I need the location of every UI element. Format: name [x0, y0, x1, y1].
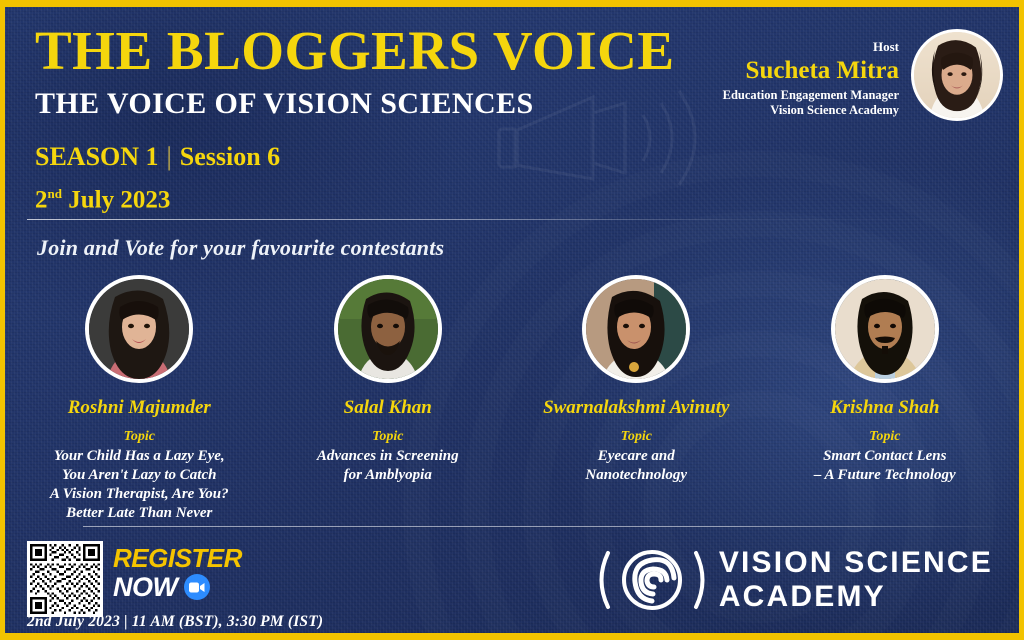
divider-header: [27, 219, 1009, 220]
contestant-portrait-image: [586, 279, 686, 379]
video-camera-icon[interactable]: [184, 574, 210, 600]
tagline: Join and Vote for your favourite contest…: [37, 235, 444, 261]
season-session-line: SEASON 1|Session 6: [35, 141, 675, 173]
contestant-topic: Your Child Has a Lazy Eye, You Aren't La…: [16, 447, 262, 523]
contestant-portrait-image: [89, 279, 189, 379]
host-name: Sucheta Mitra: [723, 56, 899, 85]
season-separator: |: [159, 142, 180, 171]
contestant-topic-label: Topic: [16, 428, 262, 446]
host-label: Host: [723, 39, 899, 55]
host-role: Education Engagement Manager: [723, 88, 899, 103]
contestant-avatar: [334, 275, 442, 383]
contestants-row: Roshni Majumder Topic Your Child Has a L…: [15, 275, 1009, 523]
fingerprint-spiral-logo-icon: [591, 543, 713, 617]
contestant-avatar: [85, 275, 193, 383]
host-organisation: Vision Science Academy: [723, 103, 899, 118]
contestant-portrait-image: [338, 279, 438, 379]
contestant-avatar: [582, 275, 690, 383]
now-row: NOW: [113, 572, 242, 602]
contestant-topic: Smart Contact Lens – A Future Technology: [762, 447, 1008, 485]
date-day: 2: [35, 186, 48, 213]
poster-canvas: THE BLOGGERS VOICE THE VOICE OF VISION S…: [0, 0, 1024, 640]
header-block: THE BLOGGERS VOICE THE VOICE OF VISION S…: [35, 21, 675, 215]
qr-code-image: [30, 544, 100, 614]
contestant-name: Salal Khan: [265, 396, 511, 419]
contestant-topic-label: Topic: [265, 428, 511, 446]
event-date: 2nd July 2023: [35, 179, 675, 215]
divider-footer: [83, 526, 1005, 527]
season-label: SEASON 1: [35, 142, 159, 171]
date-ordinal: nd: [48, 186, 62, 201]
contestant-topic-label: Topic: [762, 428, 1008, 446]
host-text-block: Host Sucheta Mitra Education Engagement …: [723, 29, 911, 118]
brand-logo: VISION SCIENCE ACADEMY: [591, 543, 993, 617]
host-portrait-image: [914, 32, 1000, 118]
contestant-topic: Eyecare and Nanotechnology: [513, 447, 759, 485]
contestant-card: Swarnalakshmi Avinuty Topic Eyecare and …: [513, 275, 759, 485]
date-rest: July 2023: [62, 186, 170, 213]
qr-code[interactable]: [27, 541, 103, 617]
contestant-topic: Advances in Screening for Amblyopia: [265, 447, 511, 485]
contestant-name: Roshni Majumder: [16, 396, 262, 419]
session-label: Session 6: [180, 142, 280, 171]
contestant-topic-label: Topic: [513, 428, 759, 446]
brand-line-2: ACADEMY: [719, 580, 993, 614]
page-title: THE BLOGGERS VOICE: [35, 21, 675, 81]
brand-wordmark: VISION SCIENCE ACADEMY: [719, 546, 993, 614]
footer-date-time: 2nd July 2023 | 11 AM (BST), 3:30 PM (IS…: [27, 613, 323, 631]
host-avatar: [911, 29, 1003, 121]
contestant-portrait-image: [835, 279, 935, 379]
host-block: Host Sucheta Mitra Education Engagement …: [723, 29, 1003, 121]
contestant-card: Salal Khan Topic Advances in Screening f…: [265, 275, 511, 485]
register-label: REGISTER: [113, 545, 242, 572]
register-now-block[interactable]: REGISTER NOW: [113, 545, 242, 602]
page-subtitle: THE VOICE OF VISION SCIENCES: [35, 85, 675, 123]
brand-line-1: VISION SCIENCE: [719, 546, 993, 580]
now-label: NOW: [113, 572, 177, 602]
contestant-avatar: [831, 275, 939, 383]
contestant-name: Krishna Shah: [762, 396, 1008, 419]
contestant-card: Roshni Majumder Topic Your Child Has a L…: [16, 275, 262, 523]
video-camera-glyph: [189, 582, 205, 593]
contestant-name: Swarnalakshmi Avinuty: [513, 396, 759, 419]
contestant-card: Krishna Shah Topic Smart Contact Lens – …: [762, 275, 1008, 485]
